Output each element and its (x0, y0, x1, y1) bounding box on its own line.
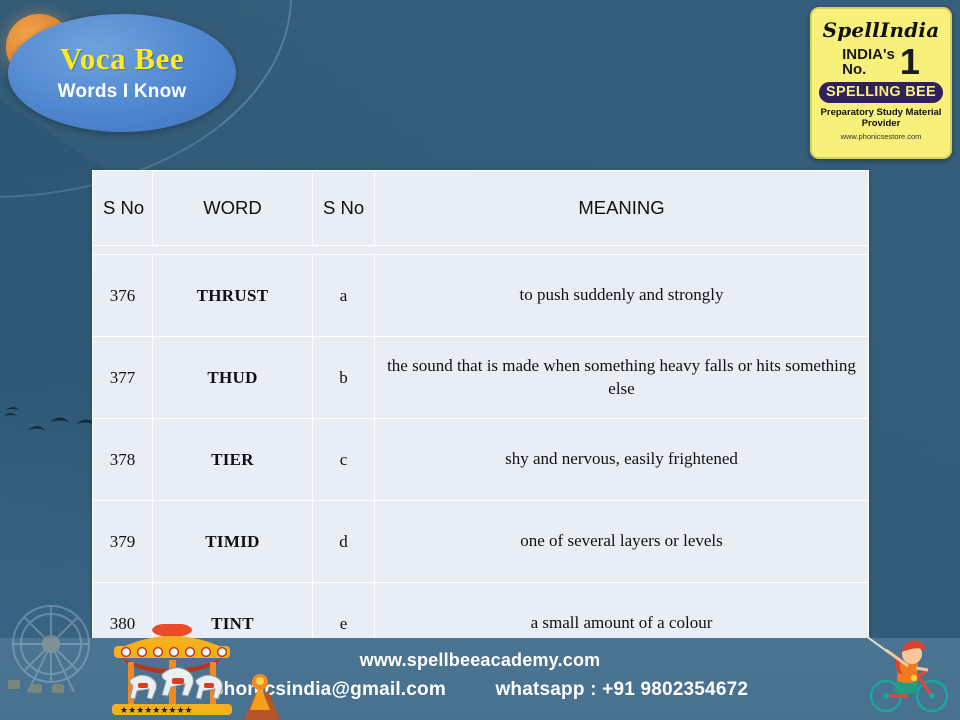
column-header-word: WORD (153, 171, 313, 246)
ferris-wheel-icon (4, 600, 98, 694)
table-row: 376 THRUST a to push suddenly and strong… (93, 255, 869, 337)
words-table: S No WORD S No MEANING 376 THRUST a to p… (92, 170, 869, 665)
cell-sno: 378 (93, 419, 153, 501)
cell-word: TIER (153, 419, 313, 501)
cell-sno: 379 (93, 501, 153, 583)
badge-rank-number: 1 (900, 47, 920, 78)
cyclist-icon (862, 634, 954, 718)
spellindia-badge: SpellIndia INDIA's No. 1 SPELLING BEE Pr… (810, 7, 952, 159)
cell-meaning: the sound that is made when something he… (375, 337, 869, 419)
badge-rank-line1: INDIA's (842, 47, 895, 62)
badge-rank: INDIA's No. 1 (817, 47, 945, 78)
table-row: 379 TIMID d one of several layers or lev… (93, 501, 869, 583)
cell-word: THRUST (153, 255, 313, 337)
column-header-meaning: MEANING (375, 171, 869, 246)
table-separator-bar (93, 246, 869, 255)
cell-sno: 376 (93, 255, 153, 337)
badge-url: www.phonicsestore.com (817, 132, 945, 141)
logo-subtitle: Words I Know (58, 81, 187, 103)
logo-title: Voca Bee (60, 43, 184, 76)
cell-meaning: shy and nervous, easily frightened (375, 419, 869, 501)
words-table-container: S No WORD S No MEANING 376 THRUST a to p… (92, 170, 868, 665)
cell-word: TIMID (153, 501, 313, 583)
badge-pill-label: SPELLING BEE (819, 82, 943, 103)
badge-rank-line2: No. (842, 62, 895, 77)
table-row: 377 THUD b the sound that is made when s… (93, 337, 869, 419)
table-head: S No WORD S No MEANING (93, 171, 869, 255)
badge-rank-text: INDIA's No. (842, 47, 895, 78)
table-header-row: S No WORD S No MEANING (93, 171, 869, 246)
birds-flying-icon (2, 396, 106, 448)
badge-brand: SpellIndia (817, 18, 945, 42)
separator-cell (93, 246, 869, 255)
footer-whatsapp[interactable]: whatsapp : +91 9802354672 (495, 679, 748, 700)
badge-provider-text: Preparatory Study Material Provider (817, 107, 945, 129)
cell-sno: 377 (93, 337, 153, 419)
cell-key: d (313, 501, 375, 583)
cell-key: c (313, 419, 375, 501)
voca-bee-logo: Voca Bee Words I Know (8, 14, 236, 132)
cell-key: a (313, 255, 375, 337)
carousel-icon: ★★★★★★★★★ (96, 624, 248, 720)
cell-meaning: one of several layers or levels (375, 501, 869, 583)
slide-canvas: Voca Bee Words I Know SpellIndia INDIA's… (0, 0, 960, 720)
table-body: 376 THRUST a to push suddenly and strong… (93, 255, 869, 665)
cell-meaning: to push suddenly and strongly (375, 255, 869, 337)
cell-word: THUD (153, 337, 313, 419)
table-row: 378 TIER c shy and nervous, easily frigh… (93, 419, 869, 501)
cell-key: b (313, 337, 375, 419)
column-header-sno: S No (93, 171, 153, 246)
svg-text:★★★★★★★★★: ★★★★★★★★★ (120, 706, 193, 716)
flame-icon (238, 664, 284, 720)
footer-bar: www.spellbeeacademy.com phonicsindia@gma… (0, 638, 960, 720)
column-header-sno-2: S No (313, 171, 375, 246)
